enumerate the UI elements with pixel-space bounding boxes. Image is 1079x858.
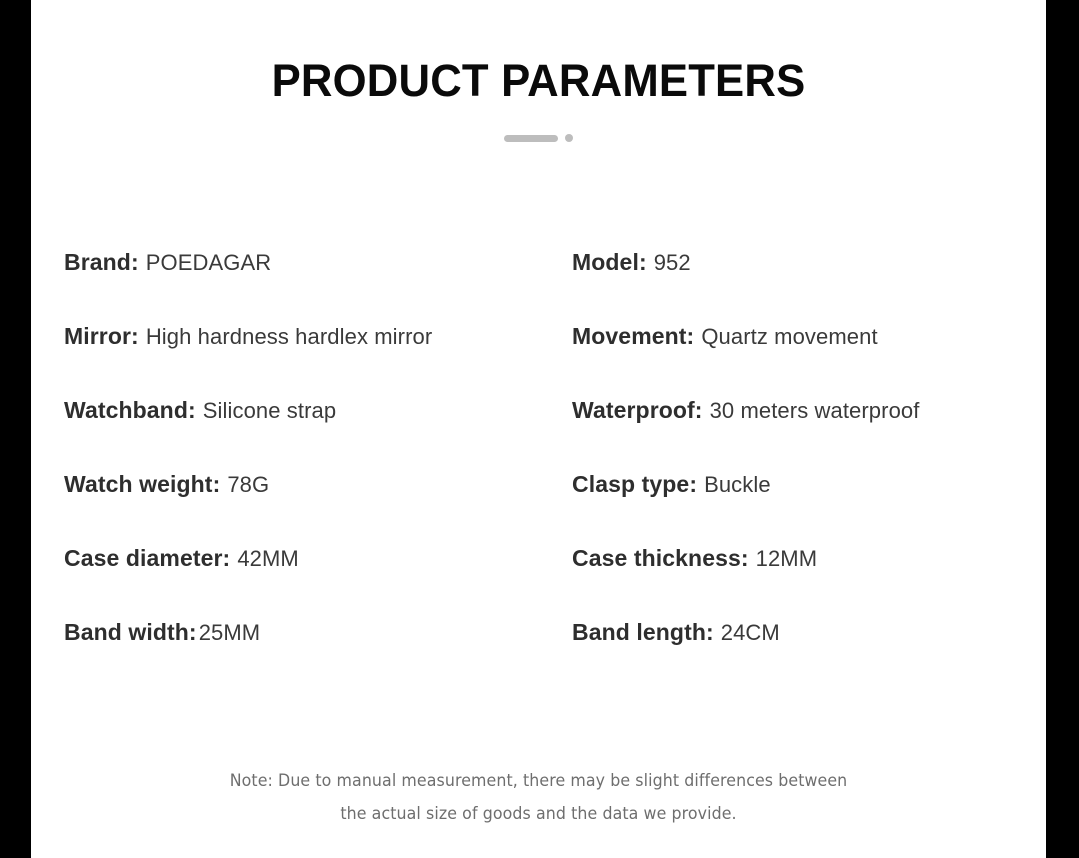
spec-value-brand: POEDAGAR (146, 250, 272, 276)
spec-label-band-length: Band length: (572, 619, 714, 646)
spec-value-band-width: 25MM (199, 620, 261, 646)
spec-row-band-length: Band length: 24CM (572, 619, 1052, 693)
content-sheet: PRODUCT PARAMETERS Brand: POEDAGAR Mirro… (31, 0, 1046, 858)
spec-row-clasp-type: Clasp type: Buckle (572, 471, 1052, 545)
spec-row-watchband: Watchband: Silicone strap (64, 397, 564, 471)
spec-row-watch-weight: Watch weight: 78G (64, 471, 564, 545)
left-letterbox-bar (0, 0, 31, 858)
product-parameters-page: PRODUCT PARAMETERS Brand: POEDAGAR Mirro… (0, 0, 1079, 858)
spec-label-watch-weight: Watch weight: (64, 471, 220, 498)
measurement-note-line-1: Note: Due to manual measurement, there m… (67, 765, 1011, 798)
spec-row-case-diameter: Case diameter: 42MM (64, 545, 564, 619)
spec-value-mirror: High hardness hardlex mirror (146, 324, 432, 350)
spec-label-model: Model: (572, 249, 647, 276)
spec-label-band-width: Band width: (64, 619, 197, 646)
spec-label-movement: Movement: (572, 323, 694, 350)
spec-value-clasp-type: Buckle (704, 472, 771, 498)
spec-column-left: Brand: POEDAGAR Mirror: High hardness ha… (64, 249, 564, 693)
spec-value-model: 952 (654, 250, 691, 276)
divider-bar-icon (504, 135, 558, 142)
spec-value-waterproof: 30 meters waterproof (710, 398, 920, 424)
spec-row-movement: Movement: Quartz movement (572, 323, 1052, 397)
spec-row-waterproof: Waterproof: 30 meters waterproof (572, 397, 1052, 471)
spec-row-brand: Brand: POEDAGAR (64, 249, 564, 323)
spec-value-case-diameter: 42MM (237, 546, 299, 572)
divider-dot-icon (565, 134, 573, 142)
measurement-note-line-2: the actual size of goods and the data we… (67, 798, 1011, 831)
spec-label-case-diameter: Case diameter: (64, 545, 230, 572)
spec-label-brand: Brand: (64, 249, 139, 276)
spec-row-case-thickness: Case thickness: 12MM (572, 545, 1052, 619)
spec-row-mirror: Mirror: High hardness hardlex mirror (64, 323, 564, 397)
spec-value-movement: Quartz movement (701, 324, 877, 350)
spec-row-band-width: Band width: 25MM (64, 619, 564, 693)
spec-value-band-length: 24CM (721, 620, 780, 646)
spec-column-right: Model: 952 Movement: Quartz movement Wat… (572, 249, 1052, 693)
spec-label-waterproof: Waterproof: (572, 397, 703, 424)
page-title: PRODUCT PARAMETERS (46, 55, 1031, 107)
spec-value-watch-weight: 78G (227, 472, 269, 498)
spec-label-clasp-type: Clasp type: (572, 471, 697, 498)
spec-label-watchband: Watchband: (64, 397, 196, 424)
spec-row-model: Model: 952 (572, 249, 1052, 323)
spec-value-case-thickness: 12MM (756, 546, 818, 572)
spec-label-mirror: Mirror: (64, 323, 139, 350)
spec-label-case-thickness: Case thickness: (572, 545, 749, 572)
spec-value-watchband: Silicone strap (203, 398, 336, 424)
title-divider-ornament (31, 131, 1046, 145)
measurement-note: Note: Due to manual measurement, there m… (67, 765, 1011, 831)
